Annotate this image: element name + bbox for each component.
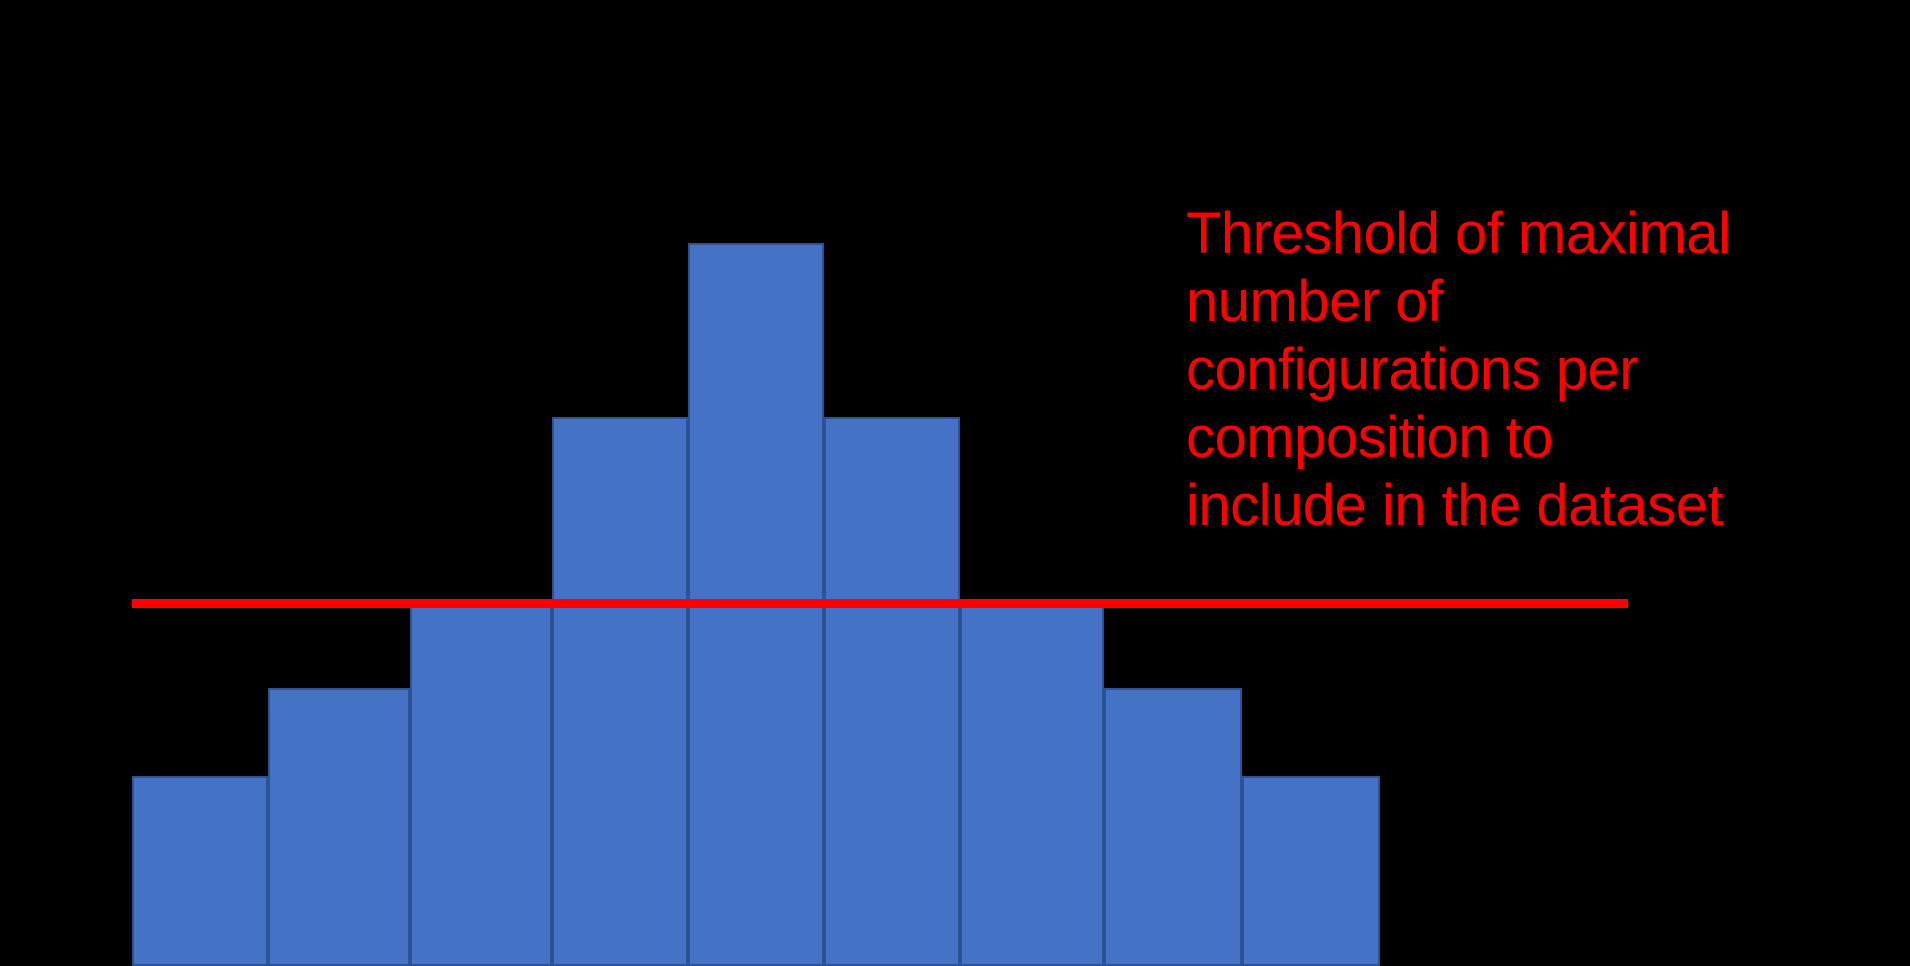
bar-1 <box>132 776 268 966</box>
bar-9 <box>1242 776 1380 966</box>
threshold-annotation-label: Threshold of maximal number of configura… <box>1186 200 1746 540</box>
bar-7 <box>960 604 1104 966</box>
bar-2 <box>268 688 410 966</box>
figure-canvas: Threshold of maximal number of configura… <box>0 0 1910 966</box>
bar-8 <box>1104 688 1242 966</box>
bar-3 <box>410 604 552 966</box>
bar-4 <box>552 417 688 966</box>
bar-6 <box>824 417 960 966</box>
threshold-line <box>132 599 1628 608</box>
